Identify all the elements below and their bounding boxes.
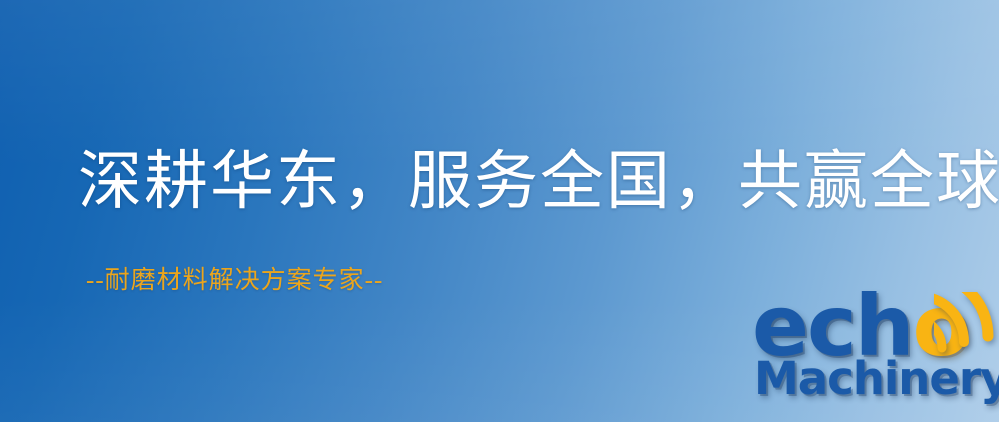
promotional-banner: 深耕华东，服务全国，共赢全球 --耐磨材料解决方案专家-- echo Machi… [0,0,999,422]
company-logo: echo Machinery® [748,296,999,422]
echo-wave-arcs-icon [934,292,999,356]
logo-wordmark-machinery-text: Machinery [754,352,999,405]
logo-wordmark-machinery: Machinery® [754,356,999,401]
headline-slogan: 深耕华东，服务全国，共赢全球 [78,150,999,214]
subtitle-tagline: --耐磨材料解决方案专家-- [86,268,383,293]
